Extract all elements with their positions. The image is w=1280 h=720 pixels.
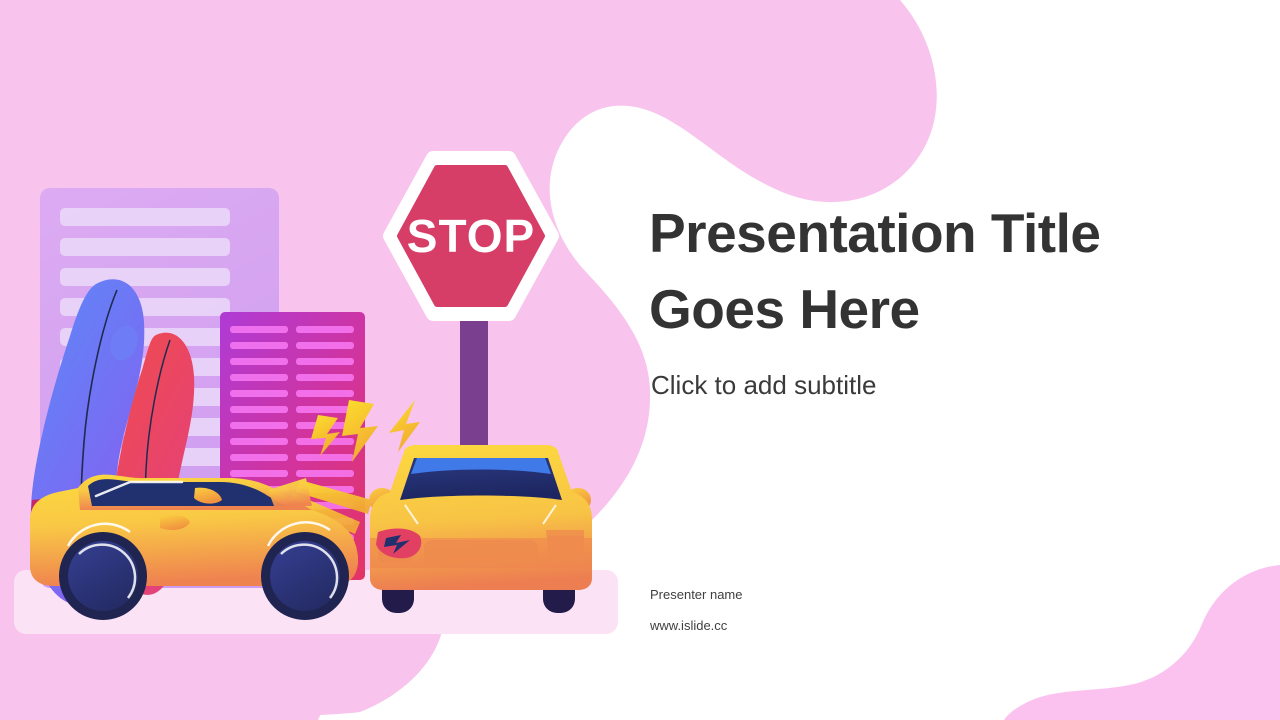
slide-text-block: Presentation Title Goes Here Click to ad… [649, 196, 1209, 401]
slide-footer: Presenter name www.islide.cc [650, 588, 743, 634]
car-front-yellow [369, 445, 592, 613]
stop-sign-text: STOP [407, 210, 535, 262]
page-title[interactable]: Presentation Title Goes Here [649, 196, 1209, 348]
presentation-slide: STOP [0, 0, 1280, 720]
stop-sign: STOP [390, 158, 552, 314]
website-url[interactable]: www.islide.cc [650, 619, 743, 633]
slide-subtitle[interactable]: Click to add subtitle [651, 370, 1209, 401]
presenter-name[interactable]: Presenter name [650, 588, 743, 602]
